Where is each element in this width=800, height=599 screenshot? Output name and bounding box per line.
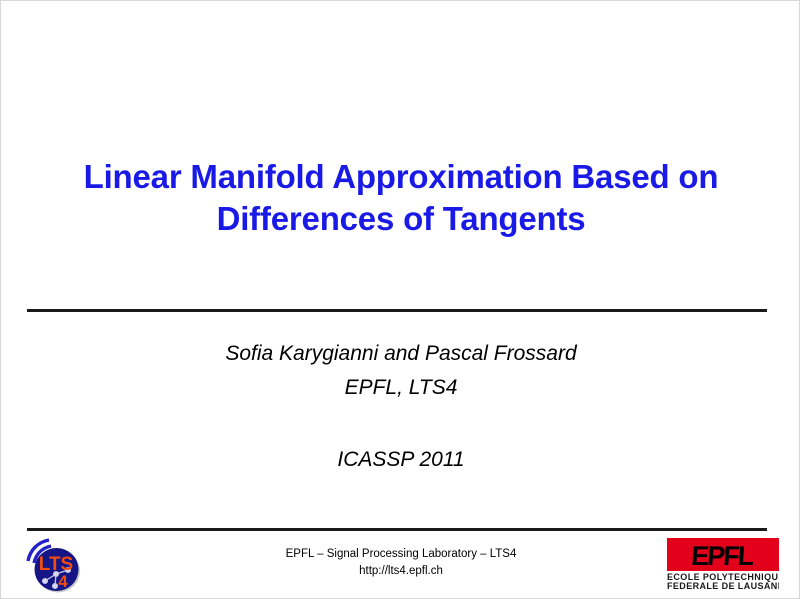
lts4-wordmark: LTS bbox=[39, 554, 73, 575]
footer-url-line[interactable]: http://lts4.epfl.ch bbox=[181, 563, 621, 580]
venue-label: ICASSP 2011 bbox=[61, 443, 741, 477]
epfl-wordmark: EPFL bbox=[690, 541, 755, 571]
lts4-logo: LTS 4 bbox=[25, 537, 87, 595]
epfl-logo: EPFL ECOLE POLYTECHNIQUE FEDERALE DE LAU… bbox=[667, 538, 779, 590]
footer-text: EPFL – Signal Processing Laboratory – LT… bbox=[181, 546, 621, 580]
epfl-tagline-line2: FEDERALE DE LAUSANNE bbox=[667, 581, 779, 590]
lts4-number: 4 bbox=[58, 572, 68, 591]
title-line-1: Linear Manifold Approximation Based on bbox=[31, 156, 771, 198]
footer-lab-line: EPFL – Signal Processing Laboratory – LT… bbox=[181, 546, 621, 563]
author-names: Sofia Karygianni and Pascal Frossard bbox=[61, 337, 741, 371]
page-title: Linear Manifold Approximation Based on D… bbox=[31, 156, 771, 240]
title-slide: Linear Manifold Approximation Based on D… bbox=[0, 0, 800, 599]
author-affiliation: EPFL, LTS4 bbox=[61, 371, 741, 405]
divider-top bbox=[27, 309, 767, 312]
title-line-2: Differences of Tangents bbox=[31, 198, 771, 240]
authors-block: Sofia Karygianni and Pascal Frossard EPF… bbox=[61, 337, 741, 477]
divider-bottom bbox=[27, 528, 767, 531]
